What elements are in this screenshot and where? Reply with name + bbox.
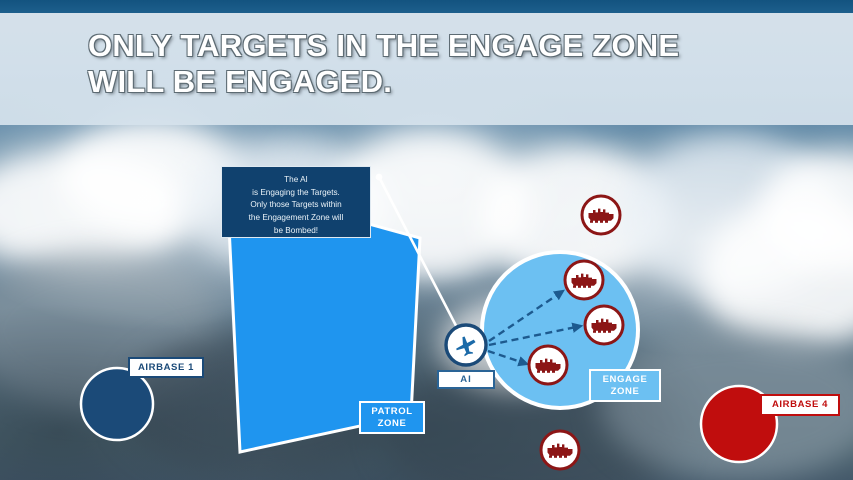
callout-line-3: Only those Targets within — [228, 199, 364, 212]
callout-line-5: be Bombed! — [228, 225, 364, 238]
engage-zone-label-line-2: ZONE — [603, 386, 648, 398]
airbase-4-label[interactable]: AIRBASE 4 — [760, 394, 840, 416]
target-outside-2[interactable] — [541, 431, 579, 469]
target-in-zone-1[interactable] — [565, 261, 603, 299]
slide-canvas: Only Targets in the Engage Zone Will be … — [0, 0, 853, 480]
callout-line-4: the Engagement Zone will — [228, 212, 364, 225]
patrol-zone-label-line-1: PATROL — [371, 406, 412, 418]
airbase-1-marker[interactable] — [81, 368, 153, 440]
callout-line-2: is Engaging the Targets. — [228, 187, 364, 200]
target-outside-1[interactable] — [582, 196, 620, 234]
patrol-zone-label[interactable]: PATROL ZONE — [359, 401, 425, 434]
target-in-zone-2[interactable] — [585, 306, 623, 344]
tactical-diagram — [0, 0, 853, 480]
target-in-zone-3[interactable] — [529, 346, 567, 384]
airbase-1-label[interactable]: AIRBASE 1 — [128, 357, 204, 378]
patrol-zone-label-line-2: ZONE — [371, 418, 412, 430]
engage-zone-label[interactable]: ENGAGE ZONE — [589, 369, 661, 402]
ai-label[interactable]: AI — [437, 370, 495, 389]
callout-line-1: The AI — [228, 174, 364, 187]
ai-explanation-callout: The AI is Engaging the Targets. Only tho… — [221, 166, 371, 238]
engage-zone-label-line-1: ENGAGE — [603, 374, 648, 386]
ai-aircraft-marker[interactable] — [446, 325, 486, 365]
